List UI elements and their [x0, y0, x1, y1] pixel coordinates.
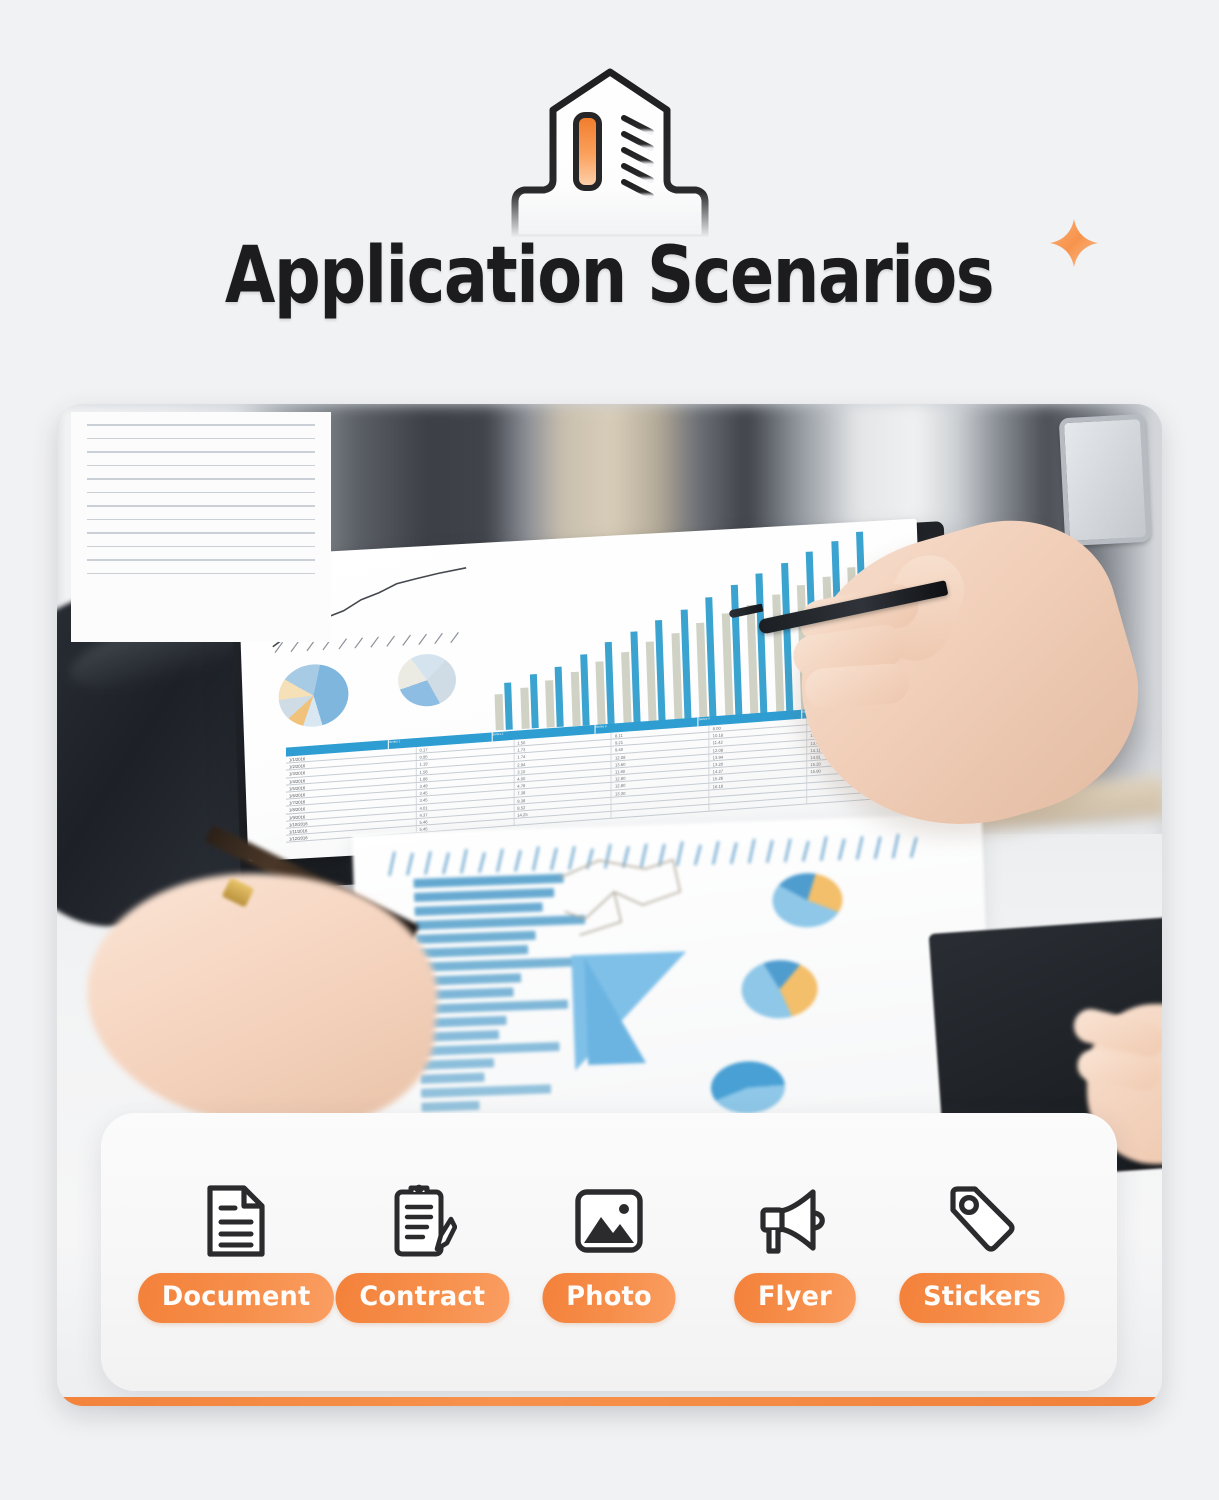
report-bar-pair	[670, 609, 691, 720]
feature-item-document[interactable]: Document	[143, 1181, 329, 1323]
report-bar-pair	[745, 574, 767, 717]
feature-label-stickers[interactable]: Stickers	[899, 1273, 1064, 1323]
foreground-funnel-shape-b	[584, 955, 646, 1065]
foreground-bar	[420, 1073, 484, 1084]
report-bar-pair	[519, 675, 538, 729]
feature-item-photo[interactable]: Photo	[516, 1181, 702, 1323]
report-bar-gray	[671, 633, 682, 721]
report-pie-chart-2	[397, 653, 458, 707]
report-bar-pair	[620, 631, 640, 723]
report-bar-blue	[680, 609, 691, 720]
report-bar-gray	[520, 688, 529, 729]
foreground-bar	[414, 888, 554, 902]
report-bar-blue	[555, 667, 564, 727]
foreground-bar	[418, 1000, 568, 1014]
report-bar-blue	[504, 682, 513, 730]
foreground-bar	[415, 931, 535, 944]
report-bar-pair	[494, 682, 513, 730]
clipboard-clip	[1059, 414, 1152, 546]
report-bar-gray	[495, 694, 504, 731]
foreground-pie-2	[741, 959, 819, 1020]
report-bar-blue	[655, 620, 666, 721]
report-bar-pair	[595, 642, 615, 725]
foreground-bar	[421, 1084, 551, 1098]
foreground-bar	[416, 957, 576, 972]
page-header: Application Scenarios	[0, 0, 1219, 390]
report-bar-gray	[646, 642, 657, 722]
feature-item-flyer[interactable]: Flyer	[702, 1181, 888, 1323]
foreground-pie-1	[772, 872, 844, 928]
report-bar-blue	[705, 597, 716, 719]
image-picture-icon	[573, 1181, 645, 1261]
foreground-report-paper	[352, 813, 992, 1135]
report-bar-pair	[720, 584, 742, 717]
page-title: Application Scenarios	[225, 236, 993, 316]
report-bar-gray	[570, 672, 580, 727]
report-bar-pair	[645, 620, 665, 722]
report-pie-chart-1	[275, 659, 353, 731]
building-skyscraper-icon	[495, 62, 725, 237]
report-bar-pair	[570, 654, 589, 726]
feature-label-flyer[interactable]: Flyer	[735, 1273, 857, 1323]
report-bar-gray	[621, 652, 631, 723]
report-bar-pair	[771, 563, 793, 715]
foreground-pie-3	[710, 1060, 786, 1115]
megaphone-icon	[757, 1181, 833, 1261]
feature-label-document[interactable]: Document	[138, 1273, 334, 1323]
finger-3	[804, 662, 911, 709]
foreground-network-diagram	[553, 853, 696, 948]
report-bar-blue	[630, 631, 640, 723]
price-tag-icon	[945, 1181, 1019, 1261]
report-bar-blue	[605, 642, 615, 724]
foreground-bar	[421, 1101, 479, 1112]
clipboard-secondary-paper	[71, 412, 331, 642]
clipboard-pen-icon	[389, 1181, 457, 1261]
report-bar-gray	[595, 661, 605, 725]
sparkle-star-icon	[1047, 216, 1101, 270]
feature-item-stickers[interactable]: Stickers	[889, 1181, 1075, 1323]
foreground-bar	[420, 1058, 494, 1070]
report-bar-gray	[545, 681, 555, 728]
foreground-bar	[416, 945, 528, 958]
application-scenarios-panel: Document Contract	[101, 1113, 1117, 1391]
page-title-row: Application Scenarios	[0, 236, 1219, 316]
feature-item-contract[interactable]: Contract	[330, 1181, 516, 1323]
report-bar-blue	[529, 675, 538, 729]
feature-label-photo[interactable]: Photo	[542, 1273, 675, 1323]
foreground-bar	[419, 1042, 559, 1056]
report-bar-pair	[545, 667, 564, 728]
report-bar-pair	[695, 597, 716, 719]
document-page-icon	[204, 1181, 268, 1261]
foreground-bar	[415, 902, 543, 915]
report-bar-blue	[580, 654, 589, 725]
feature-label-contract[interactable]: Contract	[336, 1273, 509, 1323]
